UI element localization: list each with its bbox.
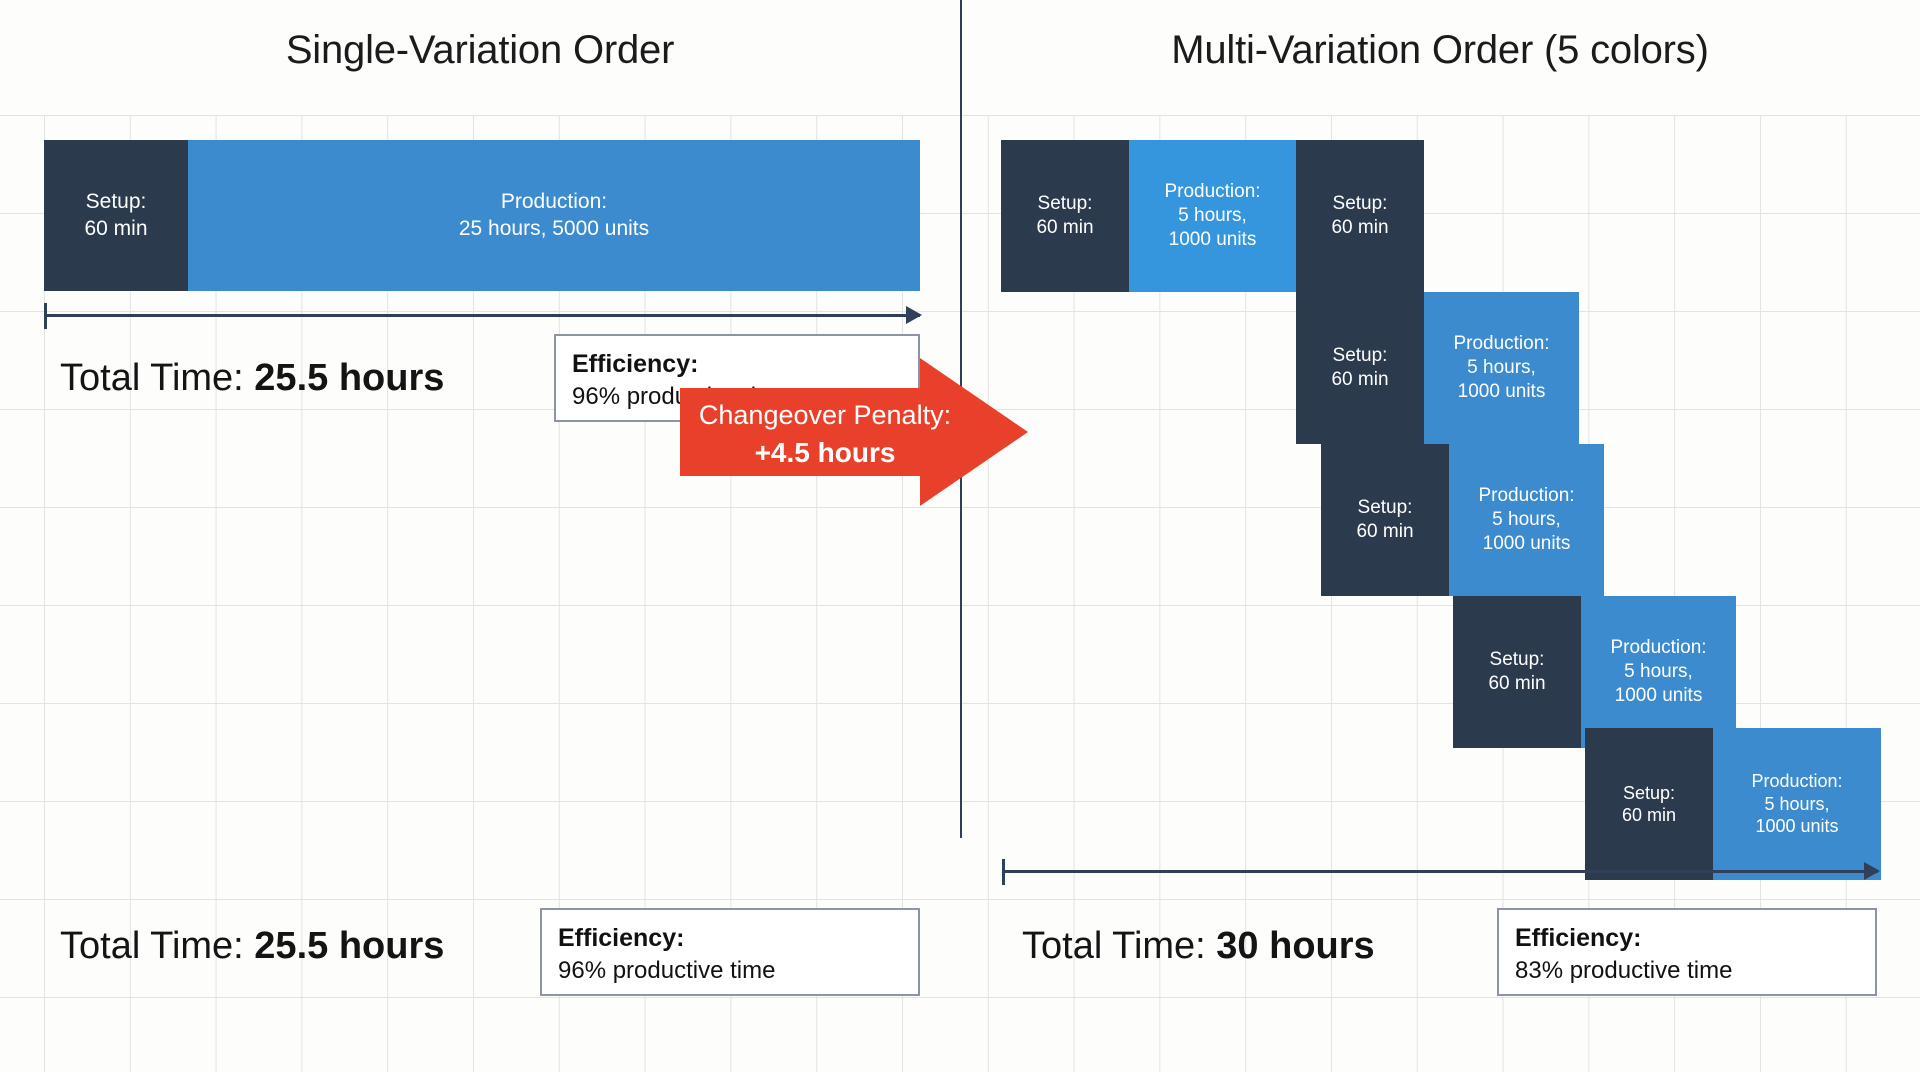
right-production-label-3: Production: 5 hours, 1000 units (1478, 484, 1574, 555)
left-total-time-lower: Total Time: 25.5 hours (60, 925, 444, 968)
left-total-time-upper: Total Time: 25.5 hours (60, 357, 444, 400)
right-total-time: Total Time: 30 hours (1022, 925, 1375, 968)
right-setup-block-4: Setup: 60 min (1453, 596, 1581, 748)
left-setup-label: Setup: 60 min (84, 189, 147, 242)
left-efficiency-box-lower: Efficiency: 96% productive time (540, 908, 920, 996)
right-production-block-2: Production: 5 hours, 1000 units (1424, 292, 1579, 444)
right-setup-label-2: Setup: 60 min (1331, 192, 1388, 240)
right-timeline-arrowhead (1864, 862, 1880, 880)
left-total-time-lower-value: 25.5 hours (254, 925, 444, 967)
right-timeline-axis (1002, 870, 1878, 873)
right-total-time-value: 30 hours (1216, 925, 1374, 967)
right-production-block-4: Production: 5 hours, 1000 units (1581, 596, 1736, 748)
right-setup-block-5: Setup: 60 min (1585, 728, 1713, 880)
right-setup-label-2b: Setup: 60 min (1331, 344, 1388, 392)
right-setup-block-1: Setup: 60 min (1001, 140, 1129, 292)
left-efficiency-title-lower: Efficiency: (558, 922, 902, 954)
right-production-label-2: Production: 5 hours, 1000 units (1453, 332, 1549, 403)
right-setup-label-3: Setup: 60 min (1356, 496, 1413, 544)
changeover-penalty-arrow: Changeover Penalty: +4.5 hours (680, 358, 1028, 506)
left-production-block: Production: 25 hours, 5000 units (188, 140, 920, 291)
left-timeline-axis (44, 314, 920, 317)
right-setup-label-4: Setup: 60 min (1488, 648, 1545, 696)
left-panel-title: Single-Variation Order (0, 28, 960, 73)
right-production-label-1: Production: 5 hours, 1000 units (1164, 180, 1260, 251)
right-production-block-5: Production: 5 hours, 1000 units (1713, 728, 1881, 880)
right-efficiency-detail: 83% productive time (1515, 956, 1859, 987)
right-production-label-5: Production: 5 hours, 1000 units (1751, 770, 1842, 838)
left-production-label: Production: 25 hours, 5000 units (459, 189, 649, 242)
left-total-time-lower-prefix: Total Time: (60, 925, 254, 967)
right-panel-title: Multi-Variation Order (5 colors) (960, 28, 1920, 73)
left-timeline-start-cap (44, 303, 47, 329)
diagram-canvas: Single-Variation Order Setup: 60 min Pro… (0, 0, 1920, 1072)
right-efficiency-title: Efficiency: (1515, 922, 1859, 954)
right-setup-label-5: Setup: 60 min (1622, 782, 1676, 827)
right-production-label-4: Production: 5 hours, 1000 units (1610, 636, 1706, 707)
right-efficiency-box: Efficiency: 83% productive time (1497, 908, 1877, 996)
right-setup-block-2: Setup: 60 min (1296, 140, 1424, 292)
right-setup-block-3: Setup: 60 min (1321, 444, 1449, 596)
right-production-block-3: Production: 5 hours, 1000 units (1449, 444, 1604, 596)
right-setup-block-2b: Setup: 60 min (1296, 292, 1424, 444)
left-efficiency-detail-lower: 96% productive time (558, 956, 902, 987)
right-timeline-start-cap (1002, 859, 1005, 885)
right-total-time-prefix: Total Time: (1022, 925, 1216, 967)
right-setup-label-1: Setup: 60 min (1036, 192, 1093, 240)
right-production-block-1: Production: 5 hours, 1000 units (1129, 140, 1296, 292)
left-setup-block: Setup: 60 min (44, 140, 188, 291)
left-timeline-arrowhead (906, 306, 922, 324)
left-total-time-upper-value: 25.5 hours (254, 357, 444, 399)
left-total-time-upper-prefix: Total Time: (60, 357, 254, 399)
